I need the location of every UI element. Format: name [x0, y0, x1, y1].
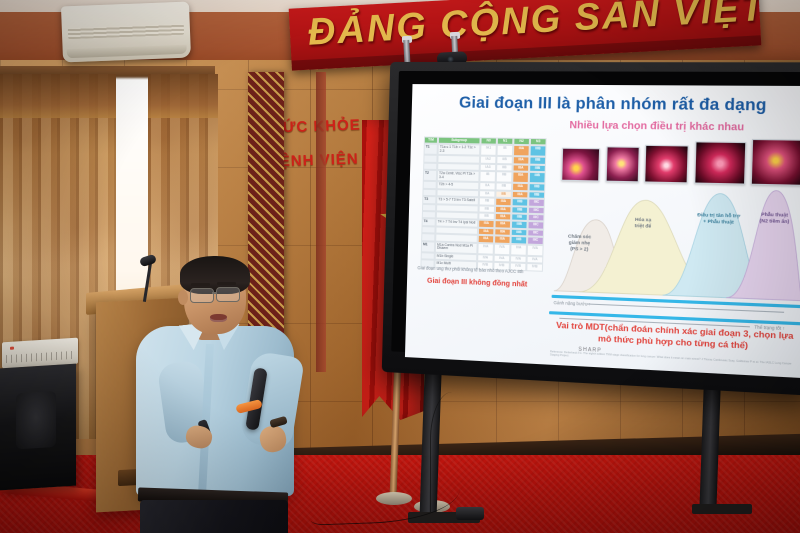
speaker-cone	[16, 391, 56, 449]
eyeglasses-bridge	[212, 292, 217, 294]
display-screen[interactable]: Giai đoạn III là phân nhóm rất đa dạng N…	[405, 84, 800, 378]
table-body: T1T1a ≤ 1 T1b > 1-2 T1c > 2-3IA1IBIIIAII…	[420, 144, 546, 271]
display-brand-logo: SHARP	[578, 347, 602, 354]
table-cell-stage: IVA	[510, 244, 527, 256]
table-cell-stage: IIIB	[529, 146, 546, 157]
table-red-caption: Giai đoạn III không đồng nhất	[427, 278, 527, 289]
loudspeaker	[0, 364, 76, 491]
pet-ct-scan-4	[694, 141, 746, 184]
pet-ct-scan-2	[605, 146, 639, 182]
treatment-distribution-chart: Chăm sócgiảm nhẹ(PS > 2) Hóa xạtriệt để …	[552, 184, 800, 310]
curve-label-1: Chăm sócgiảm nhẹ(PS > 2)	[559, 233, 600, 253]
amplifier-front-panel	[6, 351, 72, 363]
presenter	[128, 258, 304, 533]
presenter-mouth	[210, 314, 227, 322]
pet-ct-scan-1	[561, 148, 600, 182]
presenter-trousers	[140, 500, 288, 533]
eyeglasses-lens-left	[190, 288, 214, 303]
display-stand-foot-right	[692, 504, 752, 514]
pet-ct-scan-5	[751, 139, 800, 186]
display-power-cable	[430, 392, 485, 512]
air-conditioner	[61, 2, 191, 63]
conference-room-photo: ĐẢNG CỘNG SẢN VIỆT SỨC KHỎE BỆNH VIỆN Gi…	[0, 0, 800, 533]
table-cell-subgroup: T2a Centr, Visc Pl T2a > 3-4	[437, 170, 480, 182]
table-cell-stage: IB	[496, 145, 513, 156]
table-cell-t: M1	[421, 241, 435, 252]
ac-bottom-lip	[67, 45, 187, 59]
table-cell-stage: IVA	[494, 243, 511, 255]
table-cell-stage: IIIA	[513, 145, 530, 156]
power-led-icon	[10, 347, 14, 350]
presenter-eyebrow-right	[217, 282, 236, 285]
tnm-staging-table: T/M Subgroup N0 N1 N2 N3 T1T1a ≤ 1 T1b >…	[420, 137, 546, 272]
pet-ct-scan-strip	[561, 136, 800, 186]
table-cell-stage: IA1	[480, 145, 497, 156]
curtain-header-right	[148, 74, 218, 118]
table-cell-stage: IIB	[496, 171, 513, 182]
presenter-ear	[178, 290, 188, 305]
curve-label-3: Điều trị tân hỗ trợ+ Phẫu thuật	[684, 212, 753, 227]
table-cell-stage: IVA	[477, 243, 494, 255]
table-cell-subgroup: T1a ≤ 1 T1b > 1-2 T1c > 2-3	[438, 144, 481, 156]
decorative-trim-strip	[316, 72, 326, 372]
presentation-slide: Giai đoạn III là phân nhóm rất đa dạng N…	[405, 84, 800, 378]
slide-subtitle: Nhiều lựa chọn điều trị khác nhau	[533, 120, 783, 134]
display-bezel: Giai đoạn III là phân nhóm rất đa dạng N…	[391, 71, 800, 373]
table-cell-stage: IIIA	[512, 172, 529, 184]
table-cell-t: T2	[423, 170, 437, 181]
axis-label-left: Gánh nặng bướu ↑	[553, 300, 590, 307]
curve-label-4: Phẫu thuật(N2 tiềm ẩn)	[746, 211, 800, 226]
table-cell-stage: IIIB	[529, 172, 546, 184]
curtain-header-left	[0, 74, 116, 118]
eyeglasses-lens-right	[216, 287, 240, 302]
table-cell-stage: IB	[479, 171, 496, 182]
ac-vent-louvers	[68, 24, 184, 39]
table-cell-t: T1	[424, 144, 438, 155]
pet-ct-scan-3	[644, 145, 689, 184]
table-cell-stage: IVA	[527, 244, 544, 256]
presentation-display[interactable]: Giai đoạn III là phân nhóm rất đa dạng N…	[382, 62, 800, 396]
presenter-eyebrow-left	[191, 283, 210, 286]
curve-label-2: Hóa xạtriệt để	[619, 216, 667, 230]
slide-title: Giai đoạn III là phân nhóm rất đa dạng	[438, 94, 791, 116]
